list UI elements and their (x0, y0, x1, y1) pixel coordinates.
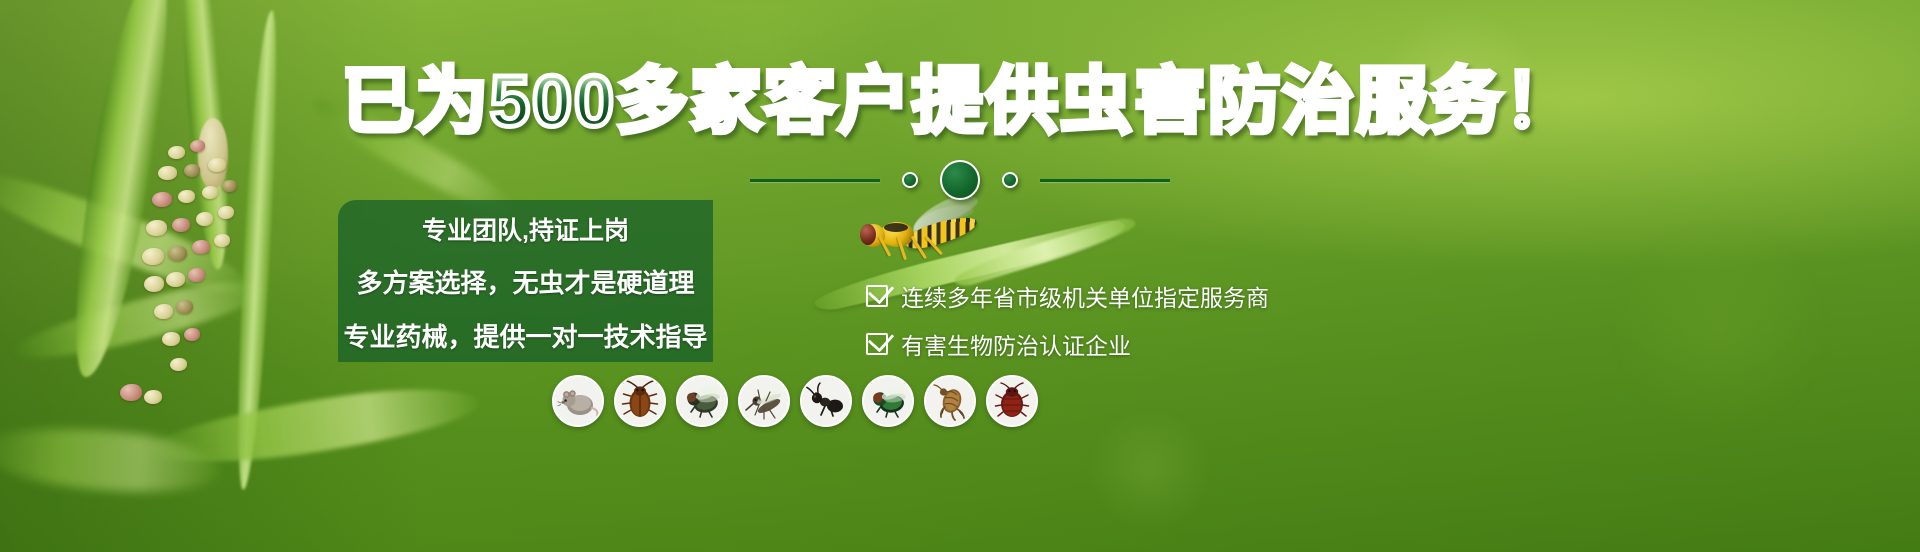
ant-icon[interactable] (800, 375, 852, 427)
bedbug-icon[interactable] (986, 375, 1038, 427)
divider-line-right (1040, 179, 1170, 182)
cockroach-icon[interactable] (614, 375, 666, 427)
panel-line-3: 专业药械，提供一对一技术指导 (338, 310, 713, 364)
credential-label: 连续多年省市级机关单位指定服务商 (901, 279, 1269, 313)
credential-label: 有害生物防治认证企业 (901, 327, 1131, 361)
list-item: 连续多年省市级机关单位指定服务商 (866, 272, 1269, 320)
headline: 已为500多家客户提供虫害防治服务！ (0, 66, 1920, 138)
divider-line-left (750, 179, 880, 182)
headline-text: 已为500多家客户提供虫害防治服务！ (342, 66, 1578, 138)
credential-list: 连续多年省市级机关单位指定服务商 有害生物防治认证企业 (866, 272, 1269, 368)
list-item: 有害生物防治认证企业 (866, 320, 1269, 368)
divider-dot-large-center (940, 160, 980, 200)
panel-line-1: 专业团队,持证上岗 (338, 206, 713, 256)
rodent-icon[interactable] (552, 375, 604, 427)
promo-banner: 已为500多家客户提供虫害防治服务！ 专业团队,持证上岗 多方案选择，无虫才是硬 (0, 0, 1920, 552)
pest-icon-strip (552, 375, 1038, 427)
selling-points-panel: 专业团队,持证上岗 多方案选择，无虫才是硬道理 专业药械，提供一对一技术指导 (338, 200, 713, 362)
bluebottle-fly-icon[interactable] (862, 375, 914, 427)
hoverfly (852, 200, 982, 262)
housefly-icon[interactable] (676, 375, 728, 427)
check-icon (866, 333, 888, 355)
divider-dot-small-left (902, 172, 918, 188)
check-icon (866, 285, 888, 307)
panel-line-2: 多方案选择，无虫才是硬道理 (338, 256, 713, 310)
decorative-divider (0, 160, 1920, 200)
flea-icon[interactable] (924, 375, 976, 427)
mosquito-icon[interactable] (738, 375, 790, 427)
divider-dot-small-right (1002, 172, 1018, 188)
